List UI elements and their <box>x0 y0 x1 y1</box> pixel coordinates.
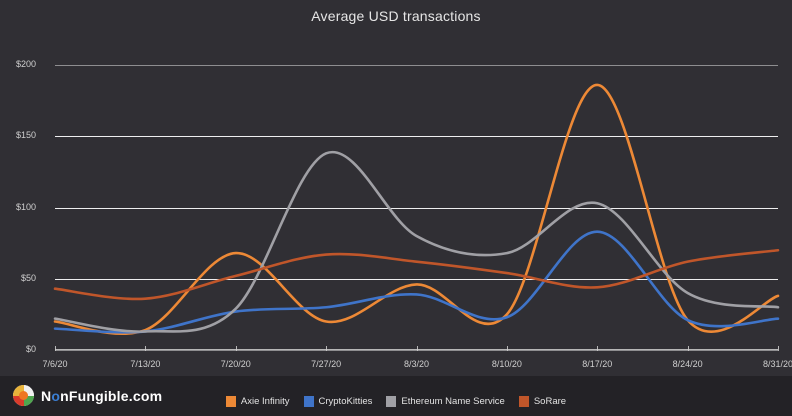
legend-label-ethereum-name-service: Ethereum Name Service <box>401 396 504 407</box>
x-axis-tick-label: 8/31/20 <box>763 359 792 369</box>
x-axis-tick-label: 7/20/20 <box>221 359 251 369</box>
legend-item-ethereum-name-service[interactable]: Ethereum Name Service <box>386 396 504 407</box>
series-line-sorare <box>55 250 778 299</box>
legend-label-sorare: SoRare <box>534 396 566 407</box>
legend-item-sorare[interactable]: SoRare <box>519 396 566 407</box>
x-axis-tick-label: 8/17/20 <box>582 359 612 369</box>
y-axis-tick-label: $150 <box>0 130 36 140</box>
legend-swatch-cryptokitties <box>304 396 314 407</box>
legend-item-cryptokitties[interactable]: CryptoKitties <box>304 396 373 407</box>
x-axis-tick-label: 7/6/20 <box>42 359 67 369</box>
chart-footer: NonFungible.com Axie InfinityCryptoKitti… <box>0 376 792 416</box>
legend-label-cryptokitties: CryptoKitties <box>319 396 373 407</box>
x-axis-tick-label: 7/27/20 <box>311 359 341 369</box>
y-axis-tick-label: $0 <box>0 344 36 354</box>
legend-item-axie-infinity[interactable]: Axie Infinity <box>226 396 290 407</box>
series-lines <box>55 65 778 350</box>
chart-container: Average USD transactions $0$50$100$150$2… <box>0 0 792 416</box>
x-axis-tick-label: 8/3/20 <box>404 359 429 369</box>
plot-area: $0$50$100$150$200 7/6/207/13/207/20/207/… <box>55 65 778 350</box>
chart-legend: Axie InfinityCryptoKittiesEthereum Name … <box>0 396 792 407</box>
x-axis-tick-label: 8/10/20 <box>492 359 522 369</box>
y-axis-tick-label: $200 <box>0 59 36 69</box>
y-axis-tick-label: $100 <box>0 202 36 212</box>
chart-title: Average USD transactions <box>0 8 792 24</box>
x-axis-tick <box>778 346 779 351</box>
legend-swatch-ethereum-name-service <box>386 396 396 407</box>
x-axis-tick-label: 7/13/20 <box>130 359 160 369</box>
y-axis-tick-label: $50 <box>0 273 36 283</box>
x-axis-tick-label: 8/24/20 <box>673 359 703 369</box>
legend-swatch-sorare <box>519 396 529 407</box>
legend-label-axie-infinity: Axie Infinity <box>241 396 290 407</box>
legend-swatch-axie-infinity <box>226 396 236 407</box>
